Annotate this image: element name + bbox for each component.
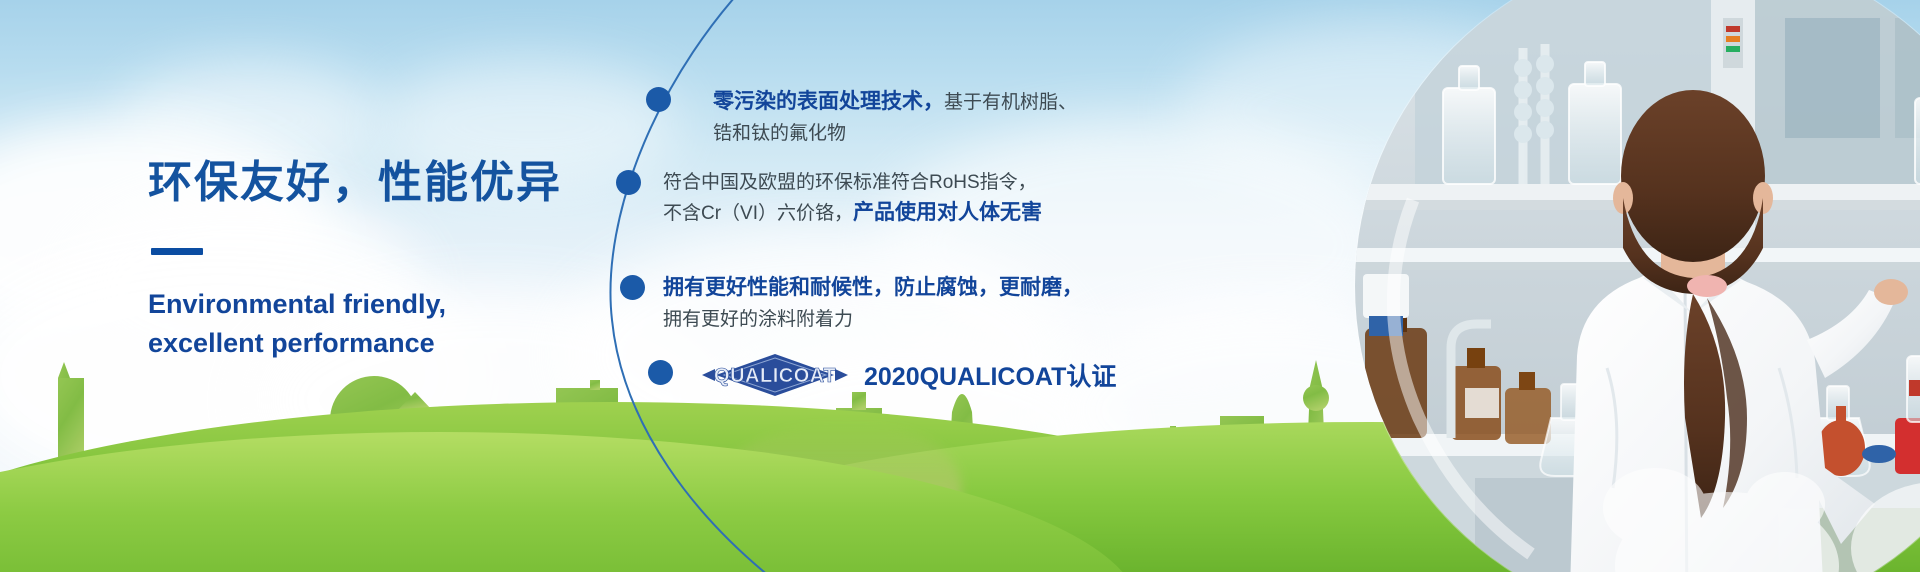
certification-label: 2020QUALICOAT认证: [864, 357, 1116, 393]
bullet-dot-2: [616, 170, 641, 195]
feature-2-strong: 产品使用对人体无害: [853, 201, 1042, 224]
headline-block: 环保友好，性能优异 Environmental friendly, excell…: [148, 155, 668, 363]
bullet-dot-3: [620, 275, 645, 300]
feature-item-1: 零污染的表面处理技术，基于有机树脂、 锆和钛的氟化物: [713, 86, 1077, 148]
feature-1-line-1: 零污染的表面处理技术，基于有机树脂、: [713, 86, 1077, 119]
feature-item-3: 拥有更好性能和耐候性，防止腐蚀，更耐磨， 拥有更好的涂料附着力: [663, 272, 1083, 334]
page-subtitle: Environmental friendly, excellent perfor…: [148, 285, 668, 363]
feature-2-normal: 不含Cr（VI）六价铬，: [663, 203, 853, 224]
qualicoat-logo-icon: QUALICOAT: [700, 352, 850, 398]
feature-3-line-1: 拥有更好性能和耐候性，防止腐蚀，更耐磨，: [663, 272, 1083, 305]
feature-2-line-1: 符合中国及欧盟的环保标准符合RoHS指令，: [663, 168, 1042, 197]
certification-row: QUALICOAT 2020QUALICOAT认证: [700, 352, 1116, 398]
page-title: 环保友好，性能优异: [148, 155, 668, 210]
feature-item-2: 符合中国及欧盟的环保标准符合RoHS指令， 不含Cr（VI）六价铬，产品使用对人…: [663, 168, 1042, 230]
title-divider: [151, 248, 203, 255]
subtitle-line-1: Environmental friendly,: [148, 285, 668, 324]
qualicoat-logo-text: QUALICOAT: [714, 365, 836, 387]
subtitle-line-2: excellent performance: [148, 324, 668, 363]
marketing-banner: 环保友好，性能优异 Environmental friendly, excell…: [0, 0, 1920, 572]
feature-1-strong: 零污染的表面处理技术，: [713, 90, 944, 113]
feature-3-line-2: 拥有更好的涂料附着力: [663, 305, 1083, 334]
bullet-dot-4: [648, 360, 673, 385]
feature-1-line-2: 锆和钛的氟化物: [713, 119, 1077, 148]
feature-3-strong: 拥有更好性能和耐候性，防止腐蚀，更耐磨，: [663, 276, 1083, 299]
laboratory-photo: [1355, 0, 1920, 572]
feature-1-rest: 基于有机树脂、: [944, 92, 1077, 113]
bullet-dot-1: [646, 87, 671, 112]
feature-2-line-2: 不含Cr（VI）六价铬，产品使用对人体无害: [663, 197, 1042, 230]
lab-photo-circle: [1355, 0, 1920, 572]
